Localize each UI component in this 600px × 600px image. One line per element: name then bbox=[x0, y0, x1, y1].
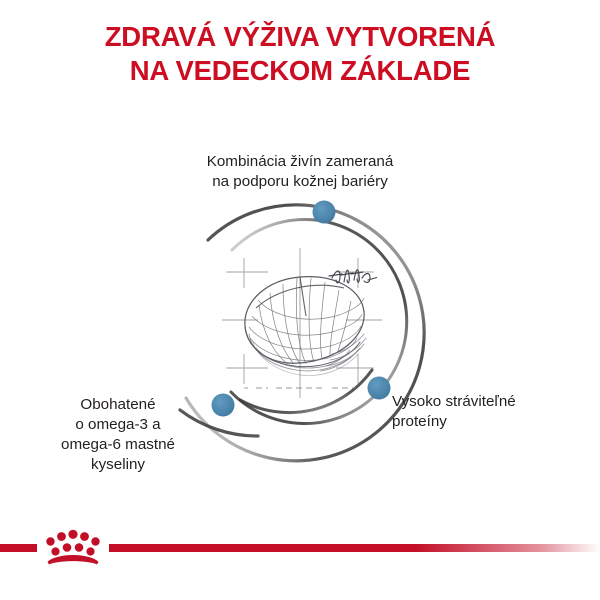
product-benefits-diagram: Kombinácia živín zameraná na podporu kož… bbox=[0, 130, 600, 520]
callout-digestible-proteins: Vysoko stráviteľné proteíny bbox=[392, 392, 592, 432]
callout-proteins-line-2: proteíny bbox=[392, 412, 592, 432]
royal-canin-crown-icon bbox=[46, 530, 99, 565]
blue-dot-icon-bottom-right bbox=[368, 377, 391, 400]
page-title: ZDRAVÁ VÝŽIVA VYTVORENÁ NA VEDECKOM ZÁKL… bbox=[0, 20, 600, 88]
callout-skin-barrier-line-2: na podporu kožnej bariéry bbox=[160, 172, 440, 192]
page-title-line-2: NA VEDECKOM ZÁKLADE bbox=[0, 54, 600, 88]
callout-omega-line-4: kyseliny bbox=[18, 455, 218, 475]
page-title-line-1: ZDRAVÁ VÝŽIVA VYTVORENÁ bbox=[0, 20, 600, 54]
infographic-page: ZDRAVÁ VÝŽIVA VYTVORENÁ NA VEDECKOM ZÁKL… bbox=[0, 0, 600, 600]
callout-skin-barrier: Kombinácia živín zameraná na podporu kož… bbox=[160, 152, 440, 192]
callout-omega-line-2: o omega-3 a bbox=[18, 415, 218, 435]
callout-omega-line-1: Obohatené bbox=[18, 395, 218, 415]
brand-bar-graphic bbox=[0, 520, 600, 600]
callout-proteins-line-1: Vysoko stráviteľné bbox=[392, 392, 592, 412]
brand-bar-left bbox=[0, 544, 37, 552]
callout-omega-line-3: omega-6 mastné bbox=[18, 435, 218, 455]
blue-dot-icon-top bbox=[313, 201, 336, 224]
brand-bar-right bbox=[109, 544, 600, 552]
brand-footer bbox=[0, 520, 600, 600]
callout-skin-barrier-line-1: Kombinácia živín zameraná bbox=[160, 152, 440, 172]
kibble-blueprint-sketch-icon bbox=[222, 248, 382, 398]
callout-omega-fatty-acids: Obohatené o omega-3 a omega-6 mastné kys… bbox=[18, 395, 218, 475]
